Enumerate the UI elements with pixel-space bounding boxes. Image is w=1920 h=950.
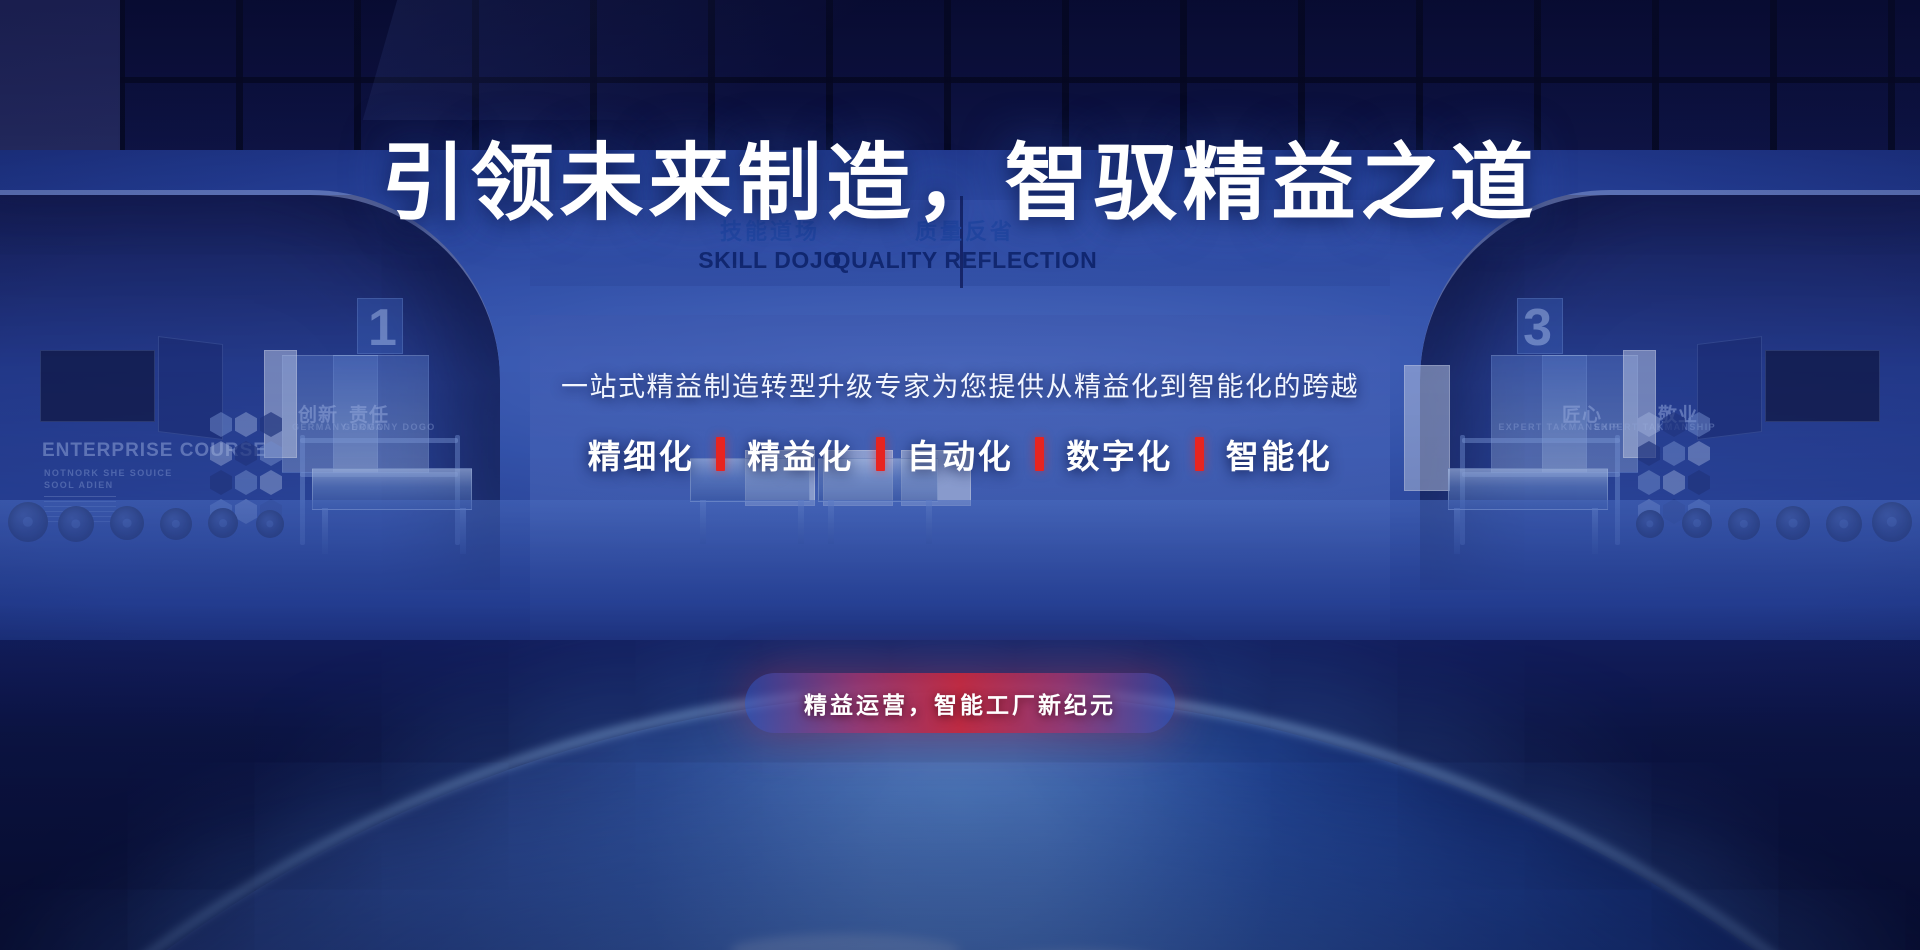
keyword-item: 自动化	[907, 430, 1014, 478]
text-overlay: 引领未来制造，智驭精益之道 一站式精益制造转型升级专家为您提供从精益化到智能化的…	[0, 0, 1920, 950]
keyword-item: 精益化	[747, 430, 854, 478]
keyword-separator-icon	[1035, 437, 1044, 471]
keyword-separator-icon	[1195, 437, 1204, 471]
keyword-separator-icon	[716, 437, 725, 471]
keyword-item: 智能化	[1226, 430, 1333, 478]
hero-subtitle: 一站式精益制造转型升级专家为您提供从精益化到智能化的跨越	[0, 365, 1920, 404]
page-title: 引领未来制造，智驭精益之道	[0, 138, 1920, 229]
keyword-item: 数字化	[1066, 430, 1173, 478]
keyword-separator-icon	[876, 437, 885, 471]
keyword-list: 精细化 精益化 自动化 数字化 智能化	[0, 430, 1920, 478]
keyword-item: 精细化	[588, 430, 695, 478]
hero-banner: ENTERPRISE COURSE NOTNORK SHE SOUICE SOO…	[0, 0, 1920, 950]
tagline-badge: 精益运营，智能工厂新纪元	[745, 673, 1175, 733]
